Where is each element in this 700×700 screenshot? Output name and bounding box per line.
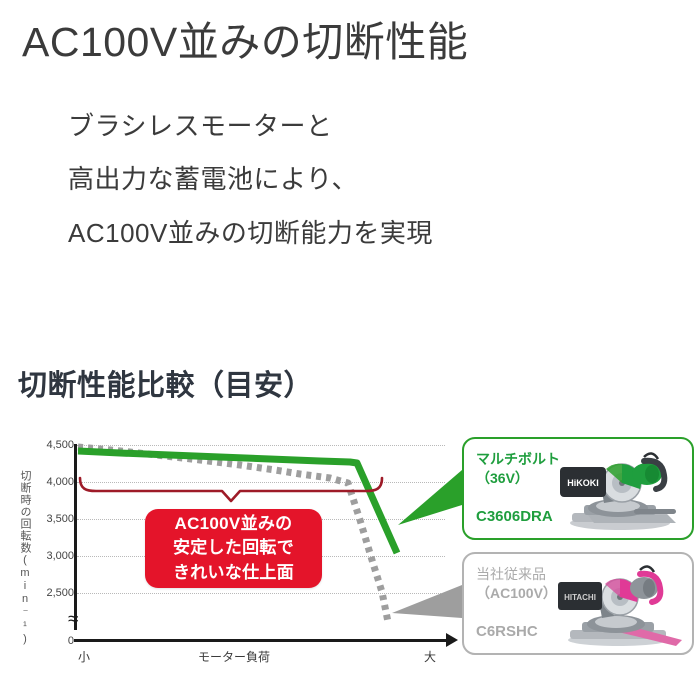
- callout-line-1: AC100V並みの: [175, 512, 293, 536]
- x-tick-small: 小: [78, 648, 90, 665]
- chart-section-title: 切断性能比較（目安）: [18, 362, 313, 404]
- miter-saw-green-icon: HiKOKI: [548, 445, 688, 537]
- product-card-legacy[interactable]: 当社従来品 （AC100V） C6RSHC: [462, 552, 694, 655]
- gridline-4000: [77, 482, 445, 483]
- legacy-card-title: 当社従来品 （AC100V）: [476, 565, 557, 603]
- legacy-model: C6RSHC: [476, 623, 538, 640]
- callout-line-3: きれいな仕上面: [173, 561, 294, 585]
- multivolt-model: C3606DRA: [476, 508, 553, 525]
- gridline-4500: [77, 445, 445, 446]
- gridline-2500: [77, 593, 445, 594]
- axis-break-icon: ≈: [68, 610, 78, 629]
- miter-saw-pink-icon: HITACHI: [548, 560, 688, 652]
- stable-rpm-callout: AC100V並みの 安定した回転で きれいな仕上面: [145, 509, 322, 588]
- x-axis-line: [74, 639, 449, 642]
- legacy-title-line-2: （AC100V）: [476, 585, 557, 601]
- x-tick-large: 大: [424, 648, 436, 665]
- y-tick-2500: 2,500: [46, 587, 74, 599]
- y-tick-4500: 4,500: [46, 439, 74, 451]
- legacy-title-line-1: 当社従来品: [476, 566, 546, 582]
- page-root: AC100V並みの切断性能 ブラシレスモーターと 高出力な蓄電池により、 AC1…: [0, 0, 700, 700]
- multivolt-title-line-2: （36V）: [476, 470, 529, 486]
- y-axis-line: [74, 444, 77, 630]
- product-card-multivolt[interactable]: マルチボルト （36V） C3606DRA: [462, 437, 694, 540]
- y-axis-title: 切断時の回転数(min⁻¹): [8, 470, 30, 646]
- y-tick-4000: 4,000: [46, 476, 74, 488]
- y-tick-3500: 3,500: [46, 513, 74, 525]
- y-tick-3000: 3,000: [46, 550, 74, 562]
- callout-line-2: 安定した回転で: [173, 536, 294, 560]
- chart-series-layer: [0, 0, 700, 268]
- x-axis-arrow-icon: [446, 633, 458, 647]
- svg-text:HiKOKI: HiKOKI: [567, 478, 599, 488]
- x-axis-title: モーター負荷: [198, 648, 270, 665]
- svg-text:HITACHI: HITACHI: [564, 593, 596, 602]
